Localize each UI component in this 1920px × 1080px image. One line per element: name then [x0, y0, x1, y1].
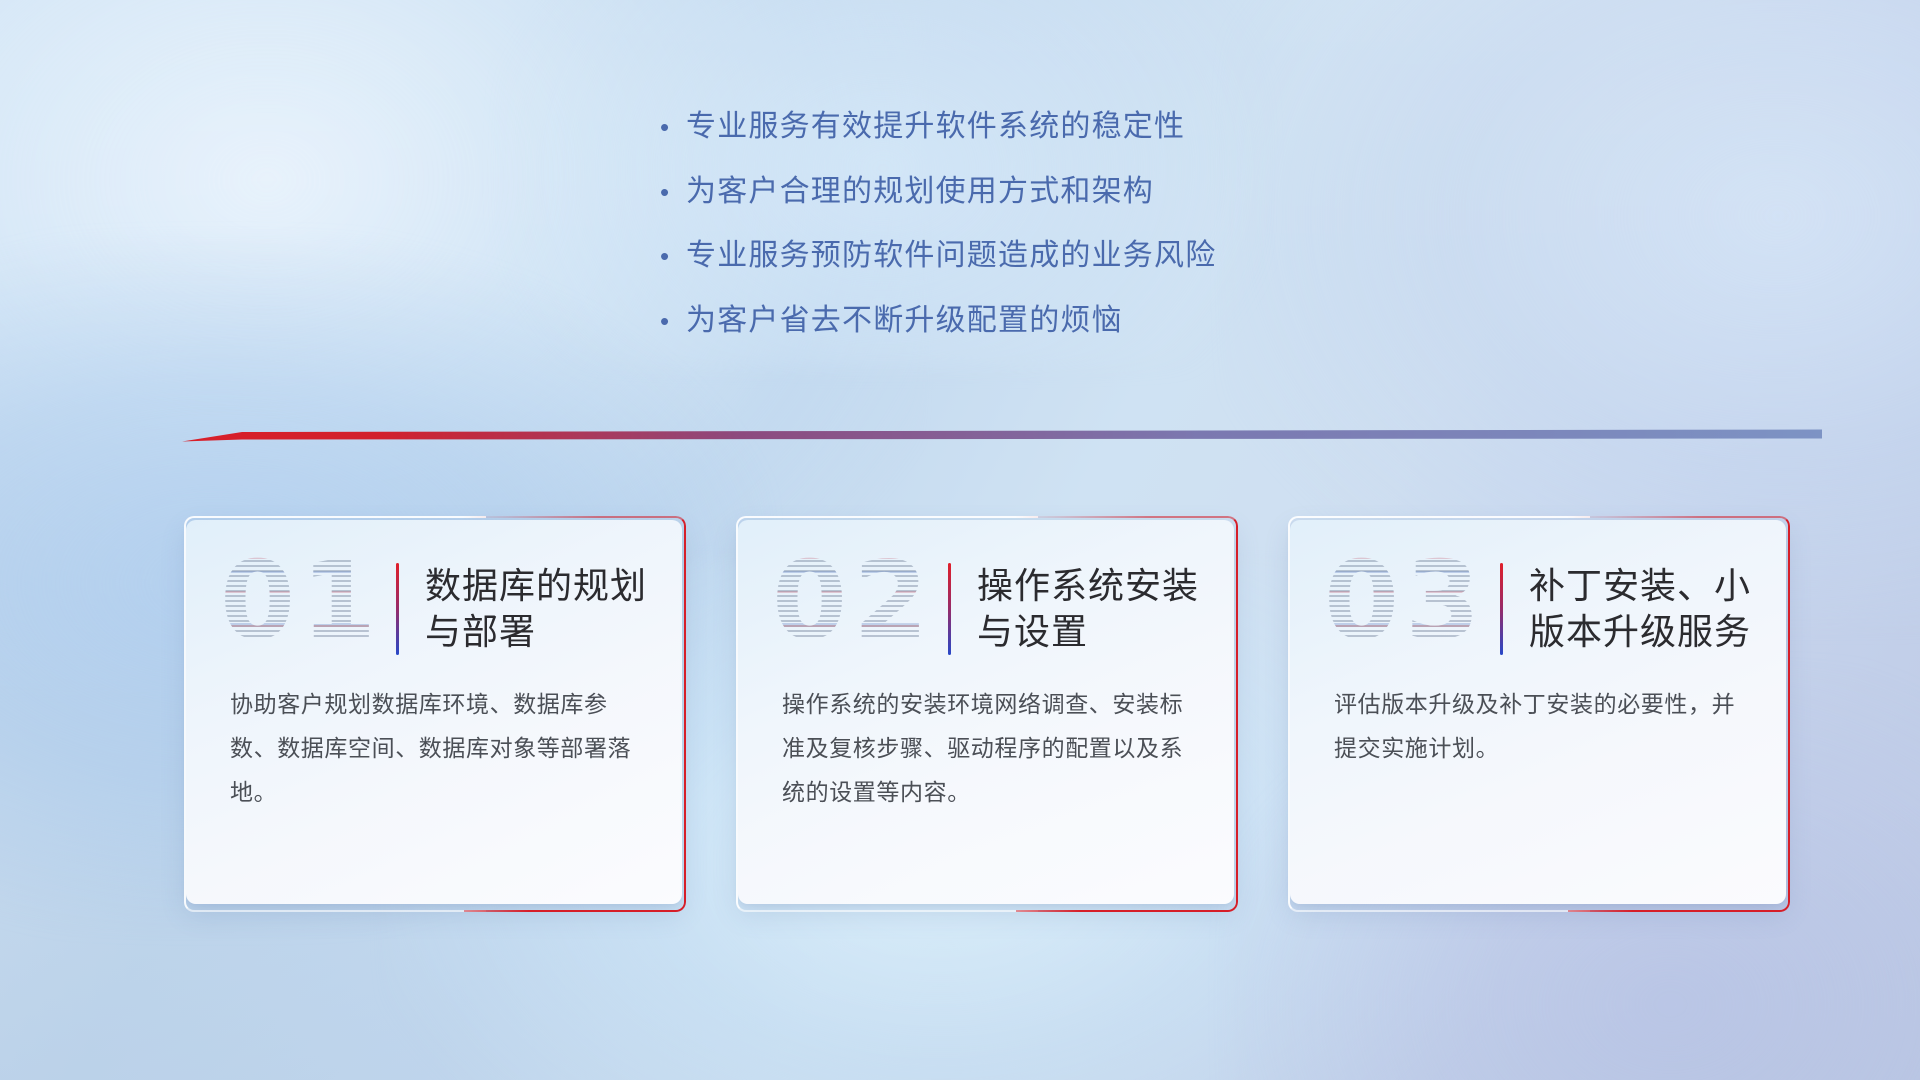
card-title-rule	[1500, 563, 1503, 655]
bullet-text-2: 为客户合理的规划使用方式和架构	[686, 173, 1154, 211]
section-divider	[182, 424, 1822, 446]
card-title-rule	[948, 563, 951, 655]
bullet-dot-icon: •	[660, 243, 686, 269]
card-number-glyph-blue: 03	[1324, 545, 1486, 658]
card-header: 03 03 03 补丁安装、小版本升级服务	[1290, 520, 1786, 670]
divider-shape-icon	[182, 424, 1822, 446]
bullet-dot-icon: •	[660, 114, 686, 140]
card-title-rule	[396, 563, 399, 655]
card-header: 01 01 01 数据库的规划与部署	[186, 520, 682, 670]
bullet-item-3: • 专业服务预防软件问题造成的业务风险	[660, 237, 1560, 275]
benefits-bullet-list: • 专业服务有效提升软件系统的稳定性 • 为客户合理的规划使用方式和架构 • 专…	[660, 108, 1560, 366]
service-card-list: 01 01 01 数据库的规划与部署 协助客户规划数据库环境、数据库参数、数据库…	[186, 520, 1786, 904]
service-card-02[interactable]: 02 02 02 操作系统安装与设置 操作系统的安装环境网络调查、安装标准及复核…	[738, 520, 1234, 904]
service-card-03[interactable]: 03 03 03 补丁安装、小版本升级服务 评估版本升级及补丁安装的必要性，并提…	[1290, 520, 1786, 904]
card-number-badge: 03 03 03	[1324, 549, 1500, 669]
bullet-text-1: 专业服务有效提升软件系统的稳定性	[686, 108, 1185, 146]
bullet-item-1: • 专业服务有效提升软件系统的稳定性	[660, 108, 1560, 146]
slide-canvas: • 专业服务有效提升软件系统的稳定性 • 为客户合理的规划使用方式和架构 • 专…	[0, 0, 1920, 1080]
card-title: 数据库的规划与部署	[425, 563, 652, 655]
bullet-dot-icon: •	[660, 179, 686, 205]
service-card-01[interactable]: 01 01 01 数据库的规划与部署 协助客户规划数据库环境、数据库参数、数据库…	[186, 520, 682, 904]
card-body-text: 协助客户规划数据库环境、数据库参数、数据库空间、数据库对象等部署落地。	[186, 670, 682, 814]
card-number-badge: 02 02 02	[772, 549, 948, 669]
bullet-item-2: • 为客户合理的规划使用方式和架构	[660, 173, 1560, 211]
card-title: 补丁安装、小版本升级服务	[1529, 563, 1756, 655]
card-number-glyph-blue: 01	[220, 545, 382, 658]
bullet-text-3: 专业服务预防软件问题造成的业务风险	[686, 237, 1216, 275]
bullet-dot-icon: •	[660, 308, 686, 334]
card-body-text: 评估版本升级及补丁安装的必要性，并提交实施计划。	[1290, 670, 1786, 770]
bullet-text-4: 为客户省去不断升级配置的烦恼	[686, 302, 1123, 340]
card-number-glyph-blue: 02	[772, 545, 934, 658]
card-number-badge: 01 01 01	[220, 549, 396, 669]
bullet-item-4: • 为客户省去不断升级配置的烦恼	[660, 302, 1560, 340]
card-header: 02 02 02 操作系统安装与设置	[738, 520, 1234, 670]
card-title: 操作系统安装与设置	[977, 563, 1204, 655]
card-body-text: 操作系统的安装环境网络调查、安装标准及复核步骤、驱动程序的配置以及系统的设置等内…	[738, 670, 1234, 814]
